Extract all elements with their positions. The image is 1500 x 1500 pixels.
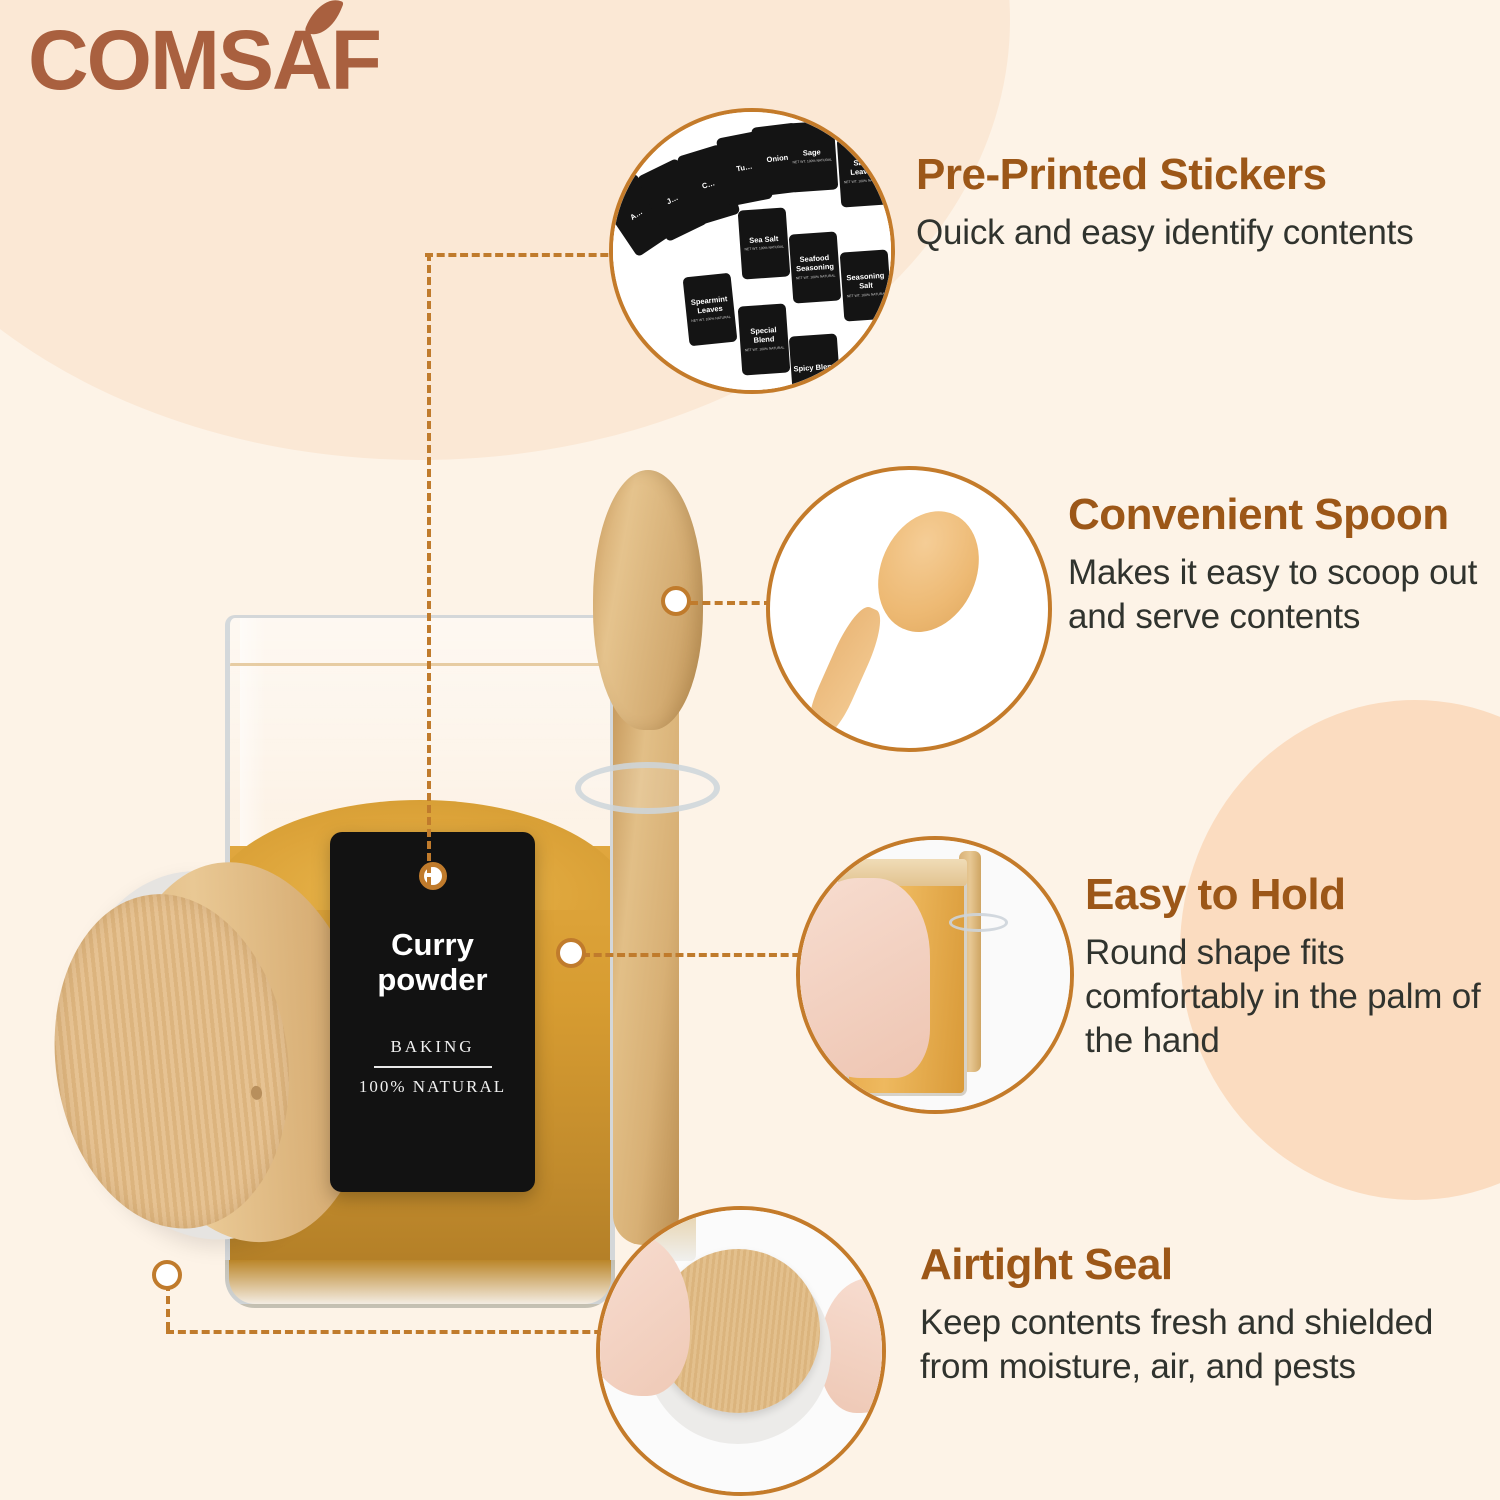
- tag-product-name: Curry powder: [377, 928, 487, 997]
- connector-line-seal-vertical: [166, 1283, 170, 1330]
- hotspot-dot-hold[interactable]: [556, 938, 586, 968]
- feature-title: Pre-Printed Stickers: [916, 152, 1476, 198]
- tag-divider: [374, 1066, 492, 1068]
- sticker-grid: A… J… C… Tu… Onion Sage NET WT. 100% NAT…: [609, 108, 895, 394]
- callout-image-pre-printed-stickers: A… J… C… Tu… Onion Sage NET WT. 100% NAT…: [609, 108, 895, 394]
- sticker-chip: Sage Leaves NET WT. 100% NATURAL: [837, 135, 890, 207]
- feature-text-easy-to-hold: Easy to Hold Round shape fits comfortabl…: [1085, 872, 1485, 1063]
- sticker-label: Seasoning Salt: [843, 272, 888, 292]
- brand-logo-text-f: F: [331, 18, 380, 102]
- sticker-sheet-photo: A… J… C… Tu… Onion Sage NET WT. 100% NAT…: [613, 112, 891, 390]
- product-label-tag: Curry powder BAKING 100% NATURAL: [330, 832, 535, 1192]
- sticker-label: Sage Leaves: [840, 158, 885, 178]
- feature-title: Airtight Seal: [920, 1242, 1440, 1288]
- sticker-chip: Seasoning Salt NET WT. 100% NATURAL: [840, 249, 893, 321]
- sticker-chip: Spearmint Leaves NET WT. 100% NATURAL: [682, 273, 737, 347]
- sticker-chip: Special Blend NET WT. 100% NATURAL: [738, 303, 791, 375]
- hold-photo-hand: [796, 878, 930, 1078]
- hotspot-dot-seal[interactable]: [152, 1260, 182, 1290]
- sticker-label: Spearmint Leaves: [687, 295, 733, 317]
- tag-category: BAKING: [390, 1037, 474, 1057]
- glass-spoon-holder-loop: [575, 762, 720, 814]
- sticker-chip: Spicy Blend: [789, 333, 842, 394]
- tag-claim: 100% NATURAL: [359, 1077, 506, 1097]
- spoon-closeup-bowl: [860, 495, 997, 648]
- callout-image-easy-to-hold: [796, 836, 1074, 1114]
- sticker-sublabel: NET WT. 100% NATURAL: [742, 246, 786, 253]
- jar-rim: [230, 622, 610, 666]
- sticker-label: Sea Salt: [741, 234, 786, 246]
- feature-description: Keep contents fresh and shielded from mo…: [920, 1301, 1440, 1389]
- connector-line-spoon: [690, 601, 772, 605]
- hotspot-dot-spoon[interactable]: [661, 586, 691, 616]
- brand-logo: COMSAF: [28, 18, 380, 102]
- sticker-sublabel: NET WT. 100% NATURAL: [794, 274, 838, 281]
- sticker-label: Spicy Blend: [793, 362, 838, 374]
- sticker-label: Seafood Seasoning: [792, 254, 837, 274]
- jar-base: [225, 1260, 615, 1308]
- feature-text-pre-printed-stickers: Pre-Printed Stickers Quick and easy iden…: [916, 152, 1476, 255]
- sticker-sublabel: NET WT. 100% NATURAL: [845, 292, 889, 299]
- callout-image-convenient-spoon: [766, 466, 1052, 752]
- connector-line-seal-horizontal: [166, 1330, 626, 1334]
- sticker-sublabel: NET WT. 100% NATURAL: [842, 178, 886, 185]
- brand-logo-letter-a: A: [272, 18, 331, 102]
- callout-image-airtight-seal: [596, 1206, 886, 1496]
- connector-line-hold: [582, 953, 812, 957]
- sticker-label: Special Blend: [741, 326, 786, 346]
- crosshair-icon: [291, 76, 311, 96]
- tag-name-line1: Curry: [391, 927, 474, 962]
- spoon-closeup-handle: [803, 602, 890, 739]
- connector-line-stickers-horizontal: [425, 253, 620, 257]
- feature-description: Round shape fits comfortably in the palm…: [1085, 931, 1485, 1063]
- sticker-chip: Seafood Seasoning NET WT. 100% NATURAL: [789, 231, 842, 303]
- feature-description: Makes it easy to scoop out and serve con…: [1068, 551, 1498, 639]
- feature-text-airtight-seal: Airtight Seal Keep contents fresh and sh…: [920, 1242, 1440, 1389]
- tag-name-line2: powder: [377, 962, 487, 997]
- sticker-label: Sage: [790, 147, 835, 159]
- sticker-sublabel: NET WT. 100% NATURAL: [790, 159, 834, 166]
- sticker-sublabel: NET WT. 100% NATURAL: [743, 346, 787, 353]
- sticker-chip: Sage NET WT. 100% NATURAL: [786, 120, 839, 192]
- bamboo-spoon: [585, 470, 705, 1260]
- infographic-canvas: COMSAF Curry: [0, 0, 1500, 1500]
- brand-logo-text-com: COMS: [28, 18, 272, 102]
- feature-title: Easy to Hold: [1085, 872, 1485, 918]
- feature-text-convenient-spoon: Convenient Spoon Makes it easy to scoop …: [1068, 492, 1498, 639]
- connector-line-stickers-vertical: [427, 253, 431, 885]
- hold-photo-glass-loop: [949, 913, 1008, 932]
- sticker-chip: Sea Salt NET WT. 100% NATURAL: [738, 207, 791, 279]
- feature-title: Convenient Spoon: [1068, 492, 1498, 538]
- sticker-sublabel: NET WT. 100% NATURAL: [689, 315, 733, 323]
- feature-description: Quick and easy identify contents: [916, 211, 1476, 255]
- tag-hole: [419, 862, 447, 890]
